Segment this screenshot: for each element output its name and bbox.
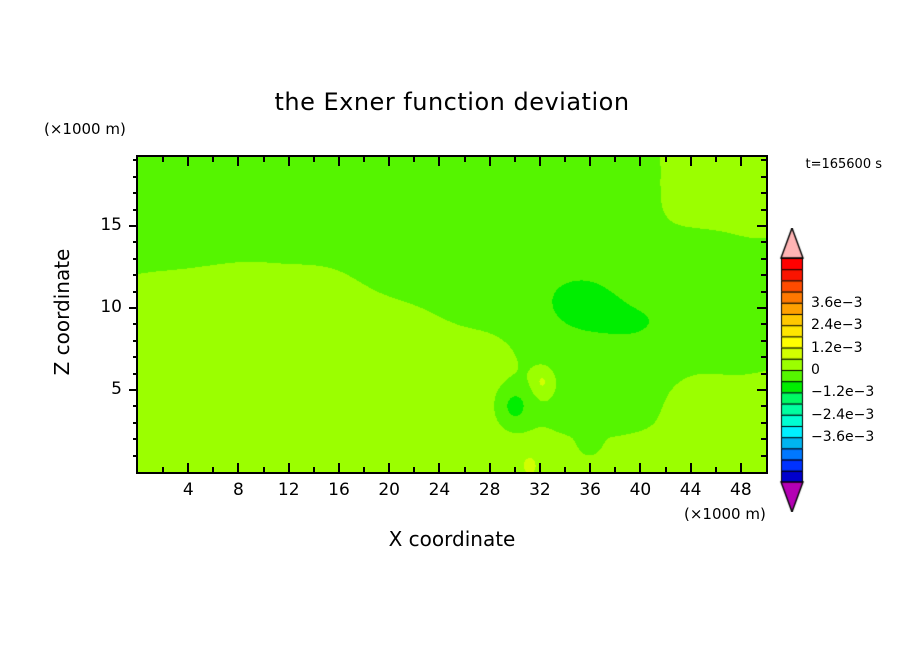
x-tick-mark	[338, 463, 340, 472]
y-tick-mark	[133, 356, 138, 358]
x-axis-unit-label: (×1000 m)	[684, 505, 766, 523]
y-tick-mark	[129, 225, 138, 227]
x-tick-mark	[489, 157, 491, 166]
y-tick-mark	[129, 307, 138, 309]
y-tick-mark	[761, 340, 766, 342]
y-tick-mark	[757, 225, 766, 227]
y-tick-mark	[761, 405, 766, 407]
x-tick-mark	[489, 463, 491, 472]
x-tick-mark	[690, 463, 692, 472]
y-tick-mark	[133, 405, 138, 407]
x-tick-mark	[464, 467, 466, 472]
x-tick-mark	[539, 157, 541, 166]
colorbar-tick-label: 0	[811, 362, 820, 378]
x-tick-mark	[263, 467, 265, 472]
x-tick-mark	[187, 463, 189, 472]
colorbar-tick-label: −3.6e−3	[811, 429, 874, 445]
x-tick-mark	[212, 467, 214, 472]
x-tick-label: 36	[570, 480, 610, 500]
y-tick-mark	[761, 258, 766, 260]
x-tick-mark	[237, 157, 239, 166]
x-tick-mark	[313, 467, 315, 472]
x-tick-mark	[212, 157, 214, 162]
x-tick-mark	[338, 157, 340, 166]
y-tick-mark	[761, 291, 766, 293]
x-tick-mark	[690, 157, 692, 166]
x-tick-mark	[162, 467, 164, 472]
y-tick-mark	[761, 241, 766, 243]
y-tick-mark	[761, 323, 766, 325]
x-tick-label: 32	[520, 480, 560, 500]
y-tick-mark	[761, 159, 766, 161]
y-tick-mark	[133, 291, 138, 293]
x-tick-mark	[614, 467, 616, 472]
y-tick-mark	[133, 323, 138, 325]
x-tick-mark	[363, 157, 365, 162]
y-tick-label: 15	[82, 215, 122, 235]
x-axis-title: X coordinate	[252, 527, 652, 551]
colorbar	[779, 228, 805, 512]
y-tick-mark	[761, 356, 766, 358]
y-tick-mark	[129, 389, 138, 391]
x-tick-mark	[564, 157, 566, 162]
x-tick-mark	[715, 467, 717, 472]
x-tick-label: 16	[319, 480, 359, 500]
y-tick-mark	[133, 373, 138, 375]
y-tick-mark	[757, 307, 766, 309]
y-axis-title: Z coordinate	[50, 222, 74, 402]
y-tick-mark	[133, 209, 138, 211]
x-tick-mark	[589, 463, 591, 472]
y-tick-mark	[133, 258, 138, 260]
y-axis-unit-label: (×1000 m)	[44, 120, 126, 138]
page-title: the Exner function deviation	[0, 88, 904, 116]
colorbar-tick-label: 2.4e−3	[811, 317, 863, 333]
x-tick-mark	[162, 157, 164, 162]
plot-area	[136, 155, 768, 474]
y-tick-mark	[761, 209, 766, 211]
y-tick-mark	[133, 241, 138, 243]
x-tick-label: 44	[671, 480, 711, 500]
x-tick-label: 24	[419, 480, 459, 500]
colorbar-tick-label: 1.2e−3	[811, 340, 863, 356]
y-tick-mark	[133, 159, 138, 161]
y-tick-label: 5	[82, 379, 122, 399]
x-tick-mark	[464, 157, 466, 162]
timestamp-annotation: t=165600 s	[805, 157, 882, 172]
x-tick-mark	[413, 467, 415, 472]
y-tick-mark	[761, 438, 766, 440]
x-tick-mark	[514, 157, 516, 162]
x-tick-mark	[514, 467, 516, 472]
colorbar-tick-label: −1.2e−3	[811, 384, 874, 400]
y-tick-mark	[133, 422, 138, 424]
x-tick-mark	[388, 463, 390, 472]
x-tick-mark	[363, 467, 365, 472]
x-tick-mark	[740, 157, 742, 166]
y-tick-mark	[133, 176, 138, 178]
x-tick-label: 40	[620, 480, 660, 500]
y-tick-mark	[133, 340, 138, 342]
y-tick-mark	[133, 192, 138, 194]
y-tick-mark	[133, 274, 138, 276]
y-tick-mark	[133, 455, 138, 457]
x-tick-label: 20	[369, 480, 409, 500]
x-tick-mark	[187, 157, 189, 166]
x-tick-mark	[564, 467, 566, 472]
colorbar-tick-label: 3.6e−3	[811, 295, 863, 311]
x-tick-mark	[589, 157, 591, 166]
y-tick-label: 10	[82, 297, 122, 317]
contour-field	[138, 157, 766, 472]
colorbar-tick-label: −2.4e−3	[811, 407, 874, 423]
y-tick-mark	[761, 455, 766, 457]
x-tick-label: 28	[470, 480, 510, 500]
x-tick-mark	[438, 157, 440, 166]
x-tick-label: 4	[168, 480, 208, 500]
x-tick-mark	[388, 157, 390, 166]
x-tick-mark	[288, 157, 290, 166]
x-tick-mark	[413, 157, 415, 162]
x-tick-mark	[639, 157, 641, 166]
x-tick-mark	[288, 463, 290, 472]
x-tick-mark	[665, 157, 667, 162]
y-tick-mark	[761, 176, 766, 178]
x-tick-mark	[639, 463, 641, 472]
y-tick-mark	[761, 373, 766, 375]
y-tick-mark	[133, 438, 138, 440]
x-tick-mark	[665, 467, 667, 472]
x-tick-mark	[313, 157, 315, 162]
x-tick-label: 48	[721, 480, 761, 500]
x-tick-mark	[715, 157, 717, 162]
x-tick-mark	[740, 463, 742, 472]
x-tick-mark	[438, 463, 440, 472]
y-tick-mark	[761, 192, 766, 194]
x-tick-mark	[263, 157, 265, 162]
x-tick-mark	[539, 463, 541, 472]
y-tick-mark	[761, 422, 766, 424]
x-tick-mark	[614, 157, 616, 162]
x-tick-label: 8	[218, 480, 258, 500]
x-tick-label: 12	[269, 480, 309, 500]
y-tick-mark	[761, 274, 766, 276]
x-tick-mark	[237, 463, 239, 472]
y-tick-mark	[757, 389, 766, 391]
